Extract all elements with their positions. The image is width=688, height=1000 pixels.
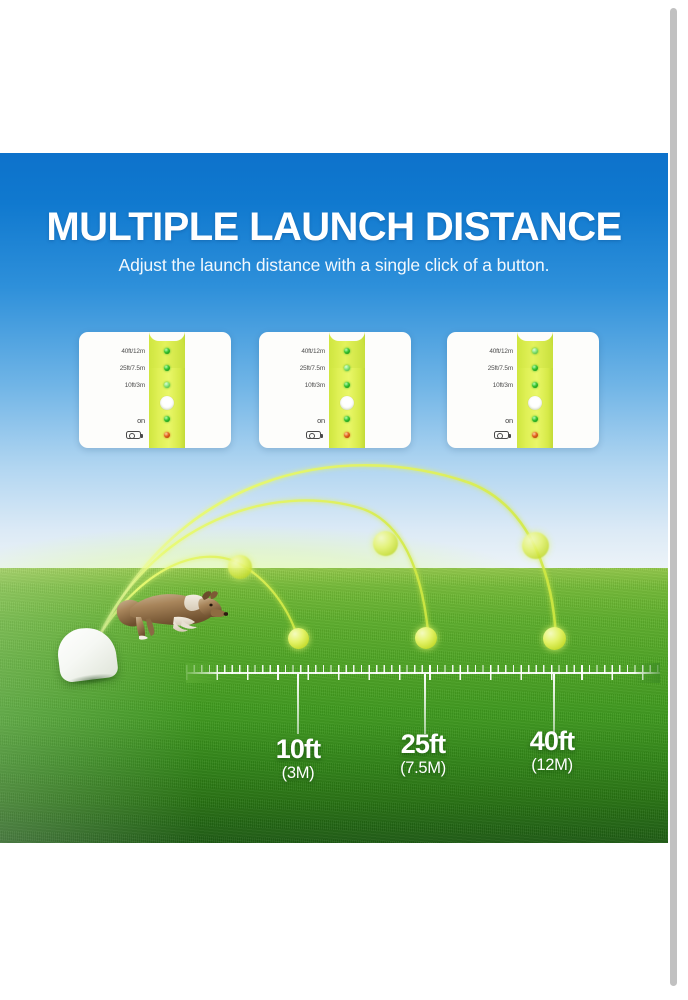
led-10ft	[164, 382, 170, 388]
control-panels-row: 40ft/12m 25ft/7.5m 10ft/3m on 40ft/12m 2…	[0, 332, 668, 450]
led-25ft	[532, 365, 538, 371]
page-title: MULTIPLE LAUNCH DISTANCE	[0, 205, 668, 250]
led-battery	[164, 432, 170, 438]
label-10ft: 10ft/3m	[83, 382, 145, 389]
led-40ft	[532, 348, 538, 354]
distance-feet-40ft: 40ft	[482, 728, 622, 755]
panel-labels: 40ft/12m 25ft/7.5m 10ft/3m on	[451, 332, 517, 448]
led-40ft	[344, 348, 350, 354]
control-panel-10ft[interactable]: 40ft/12m 25ft/7.5m 10ft/3m on	[79, 332, 231, 448]
tennis-ball-air-10ft	[228, 555, 252, 579]
battery-icon	[494, 431, 509, 439]
distance-marker-25ft	[424, 674, 426, 734]
leaping-dog	[112, 583, 228, 645]
label-40ft: 40ft/12m	[263, 348, 325, 355]
led-25ft	[164, 365, 170, 371]
label-40ft: 40ft/12m	[83, 348, 145, 355]
panel-labels: 40ft/12m 25ft/7.5m 10ft/3m on	[263, 332, 329, 448]
label-10ft: 10ft/3m	[451, 382, 513, 389]
tennis-ball-ground-25ft	[415, 627, 437, 649]
label-on: on	[83, 416, 145, 425]
strip-top-cut	[329, 332, 365, 341]
label-25ft: 25ft/7.5m	[451, 365, 513, 372]
led-40ft	[164, 348, 170, 354]
distance-label-25ft: 25ft (7.5M)	[353, 731, 493, 779]
control-panel-40ft[interactable]: 40ft/12m 25ft/7.5m 10ft/3m on	[447, 332, 599, 448]
panel-labels: 40ft/12m 25ft/7.5m 10ft/3m on	[83, 332, 149, 448]
label-on: on	[451, 416, 513, 425]
tennis-ball-air-40ft	[522, 532, 549, 559]
strip-top-cut	[517, 332, 553, 341]
distance-meters-10ft: (3M)	[228, 763, 368, 784]
distance-marker-40ft	[553, 674, 555, 734]
distance-marker-10ft	[297, 674, 299, 734]
led-battery	[344, 432, 350, 438]
distance-label-40ft: 40ft (12M)	[482, 728, 622, 776]
led-10ft	[344, 382, 350, 388]
ruler-fade-left	[186, 663, 222, 683]
power-button[interactable]	[528, 396, 542, 410]
led-10ft	[532, 382, 538, 388]
page-root: MULTIPLE LAUNCH DISTANCE Adjust the laun…	[0, 0, 688, 1000]
distance-feet-25ft: 25ft	[353, 731, 493, 758]
label-40ft: 40ft/12m	[451, 348, 513, 355]
strip-top-cut	[149, 332, 185, 341]
distance-meters-25ft: (7.5M)	[353, 758, 493, 779]
measuring-tape-ruler	[186, 665, 660, 681]
distance-meters-40ft: (12M)	[482, 755, 622, 776]
ruler-major-ticks	[186, 665, 660, 680]
battery-icon	[306, 431, 321, 439]
power-button[interactable]	[340, 396, 354, 410]
label-25ft: 25ft/7.5m	[263, 365, 325, 372]
led-on	[164, 416, 170, 422]
led-on	[344, 416, 350, 422]
battery-icon	[126, 431, 141, 439]
led-25ft	[344, 365, 350, 371]
led-battery	[532, 432, 538, 438]
tennis-ball-ground-10ft	[288, 628, 309, 649]
scrollbar-thumb[interactable]	[670, 8, 677, 986]
tennis-ball-ground-40ft	[543, 627, 566, 650]
label-10ft: 10ft/3m	[263, 382, 325, 389]
control-panel-25ft[interactable]: 40ft/12m 25ft/7.5m 10ft/3m on	[259, 332, 411, 448]
distance-feet-10ft: 10ft	[228, 736, 368, 763]
led-on	[532, 416, 538, 422]
tennis-ball-air-25ft	[373, 531, 398, 556]
label-on: on	[263, 416, 325, 425]
page-subtitle: Adjust the launch distance with a single…	[0, 255, 668, 276]
power-button[interactable]	[160, 396, 174, 410]
distance-label-10ft: 10ft (3M)	[228, 736, 368, 784]
ruler-fade-right	[634, 663, 660, 683]
label-25ft: 25ft/7.5m	[83, 365, 145, 372]
